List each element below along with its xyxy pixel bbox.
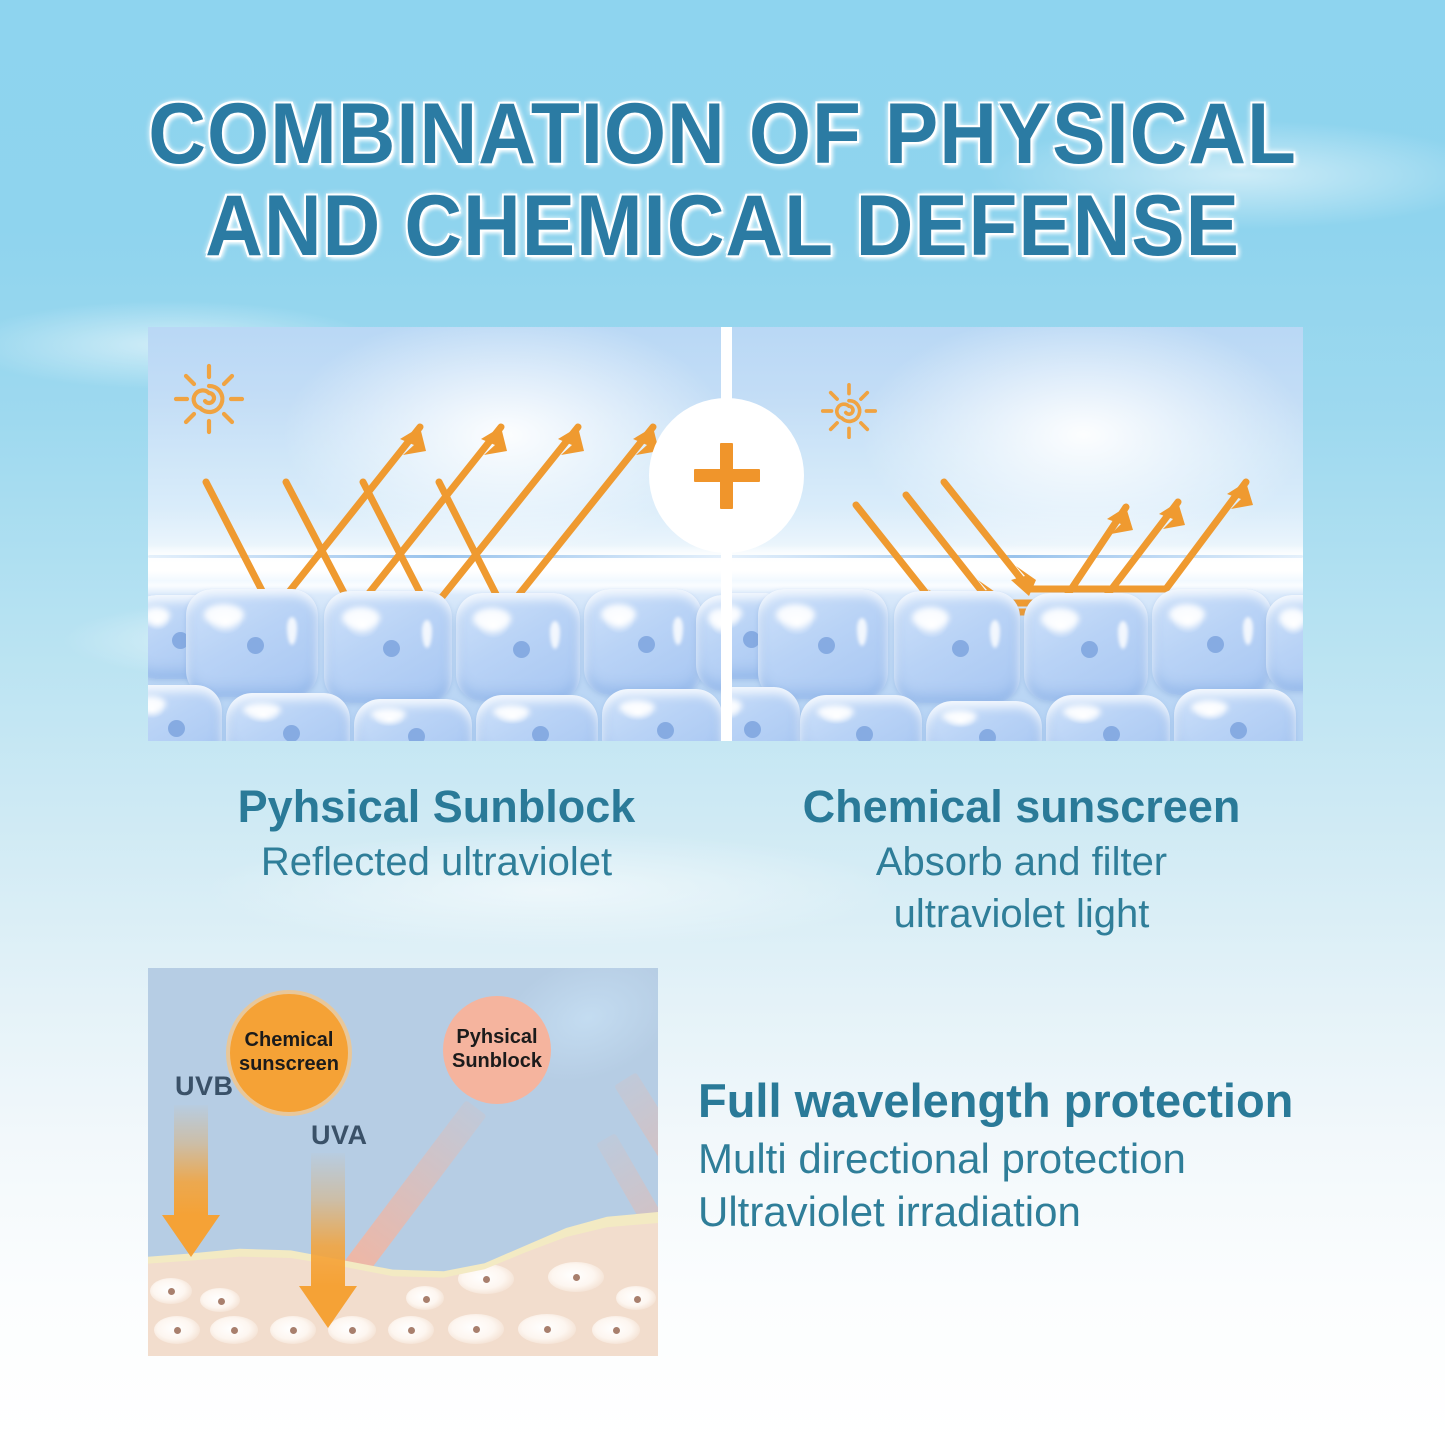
sun-icon [170, 360, 248, 438]
skin-cell [354, 699, 472, 741]
skin-cell [324, 591, 452, 703]
skin-cell [926, 701, 1042, 741]
dermis-cell [406, 1286, 444, 1310]
uva-label: UVA [311, 1120, 368, 1151]
skin-cell [1152, 589, 1272, 695]
dermis-cell [616, 1286, 656, 1310]
caption-chemical-subtitle-line2: ultraviolet light [733, 888, 1310, 940]
uvb-label: UVB [175, 1071, 234, 1102]
chemical-sunscreen-circle: Chemical sunscreen [226, 990, 352, 1116]
title-line-1: COMBINATION OF PHYSICAL [51, 88, 1395, 180]
bottom-line-2: Ultraviolet irradiation [698, 1185, 1398, 1238]
plus-badge [649, 398, 804, 553]
physical-circle-line1: Pyhsical [456, 1026, 537, 1048]
uvb-arrow-shaft [174, 1105, 208, 1215]
skin-cell [1046, 695, 1170, 741]
caption-chemical: Chemical sunscreen Absorb and filter ult… [733, 778, 1310, 940]
skin-cell [1024, 593, 1148, 701]
caption-chemical-title: Chemical sunscreen [733, 778, 1310, 836]
skin-cell [1266, 595, 1303, 691]
dermis-cell [448, 1314, 504, 1344]
uv-barrier-line [726, 555, 1303, 558]
skin-cell [476, 695, 598, 741]
skin-cell-field [726, 589, 1303, 741]
uva-arrow [311, 1153, 345, 1328]
skin-cell [602, 689, 722, 741]
caption-physical-title: Pyhsical Sunblock [148, 778, 725, 836]
dermis-cell [210, 1316, 258, 1344]
physical-sunblock-circle: Pyhsical Sunblock [443, 996, 551, 1104]
skin-dermis-layer [148, 1216, 658, 1356]
skin-cell [758, 589, 888, 699]
physical-circle-line2: Sunblock [452, 1050, 542, 1072]
panel-chemical-sunscreen [726, 327, 1303, 741]
dermis-cell [388, 1316, 434, 1344]
skin-cell [148, 685, 222, 741]
chemical-circle-line1: Chemical [245, 1029, 334, 1051]
dermis-cell [154, 1316, 200, 1344]
uva-arrow-shaft [311, 1153, 345, 1286]
sun-icon [818, 380, 880, 442]
skin-cell-field [148, 589, 725, 741]
dermis-cell [518, 1314, 576, 1344]
plus-icon-vertical [720, 443, 733, 509]
skin-cell [456, 593, 580, 701]
skin-cell [226, 693, 350, 741]
dermis-cell [548, 1262, 604, 1292]
uv-barrier-layer [148, 545, 725, 587]
uv-penetration-diagram: Chemical sunscreen Pyhsical Sunblock UVB… [148, 968, 658, 1356]
dermis-cell [592, 1316, 640, 1344]
dermis-cell [200, 1288, 240, 1312]
skin-cell [186, 589, 318, 697]
caption-physical-subtitle: Reflected ultraviolet [148, 836, 725, 888]
dermis-cell [150, 1278, 192, 1304]
skin-cell [800, 695, 922, 741]
uv-barrier-layer [726, 545, 1303, 587]
chemical-circle-line2: sunscreen [239, 1053, 339, 1075]
skin-cell [584, 589, 702, 695]
uvb-arrow-head [162, 1215, 220, 1257]
caption-chemical-subtitle-line1: Absorb and filter [733, 836, 1310, 888]
bottom-title: Full wavelength protection [698, 1070, 1398, 1132]
title-line-2: AND CHEMICAL DEFENSE [51, 180, 1395, 272]
uv-barrier-line [148, 555, 725, 558]
uvb-arrow [174, 1105, 208, 1257]
skin-cell [894, 591, 1020, 703]
uva-arrow-head [299, 1286, 357, 1328]
panel-physical-sunblock [148, 327, 725, 741]
full-wavelength-text-block: Full wavelength protection Multi directi… [698, 1070, 1398, 1238]
skin-cell [726, 687, 800, 741]
infographic-poster: COMBINATION OF PHYSICAL AND CHEMICAL DEF… [0, 0, 1445, 1445]
caption-physical: Pyhsical Sunblock Reflected ultraviolet [148, 778, 725, 888]
page-title: COMBINATION OF PHYSICAL AND CHEMICAL DEF… [0, 88, 1445, 272]
skin-cell [1174, 689, 1296, 741]
bottom-line-1: Multi directional protection [698, 1132, 1398, 1185]
